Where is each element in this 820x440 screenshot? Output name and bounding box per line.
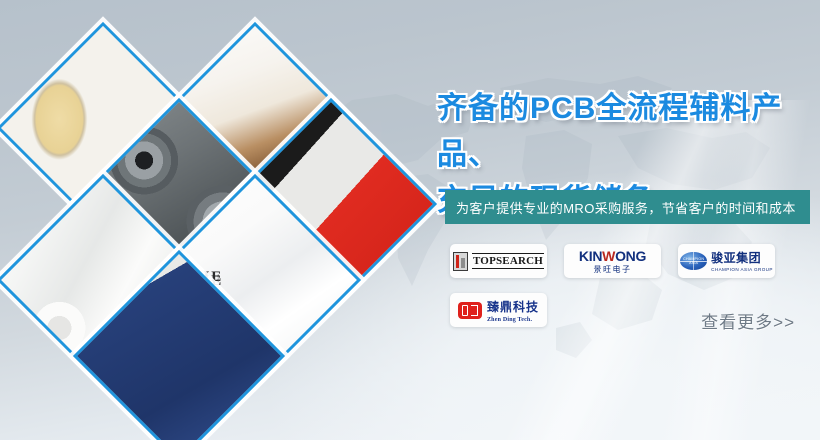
champion-asia-label: 骏亚集团 bbox=[711, 251, 761, 265]
kinwong-label-b: ONG bbox=[615, 248, 646, 264]
champion-asia-sublabel: CHAMPION ASIA GROUP bbox=[711, 268, 773, 273]
partner-logo-zhen-ding[interactable]: 臻鼎科技 Zhen Ding Tech. bbox=[450, 293, 547, 327]
kinwong-label-a: KIN bbox=[579, 248, 602, 264]
kinwong-label: KINWONG bbox=[579, 248, 646, 264]
partner-logo-topsearch[interactable]: TOPSEARCH bbox=[450, 244, 547, 278]
topsearch-mark-icon bbox=[453, 252, 468, 271]
kinwong-sublabel: 景旺电子 bbox=[579, 266, 646, 274]
zhen-ding-mark-icon bbox=[458, 302, 482, 319]
view-more-link[interactable]: 查看更多>> bbox=[701, 308, 795, 333]
zhen-ding-sublabel: Zhen Ding Tech. bbox=[487, 317, 539, 323]
champion-asia-globe-text: CHAMPION ASIA bbox=[680, 257, 707, 265]
topsearch-label: TOPSEARCH bbox=[472, 253, 544, 269]
banner-subtitle-text: 为客户提供专业的MRO采购服务，节省客户的时间和成本 bbox=[445, 198, 796, 217]
product-image-collage: JIE bbox=[0, 0, 430, 440]
zhen-ding-label: 臻鼎科技 bbox=[487, 300, 539, 314]
champion-asia-globe-icon: CHAMPION ASIA bbox=[680, 252, 707, 270]
kinwong-label-w: W bbox=[602, 248, 615, 264]
partner-logo-kinwong[interactable]: KINWONG 景旺电子 bbox=[564, 244, 661, 278]
banner-content: 齐备的PCB全流程辅料产品、 充足的现货储备 为客户提供专业的MRO采购服务，节… bbox=[430, 0, 820, 440]
banner-subtitle-bar: 为客户提供专业的MRO采购服务，节省客户的时间和成本 bbox=[445, 190, 810, 224]
hero-banner: JIE 齐备的PCB全流程辅料产品、 充足的现货储备 为客户提供专业的MRO采购… bbox=[0, 0, 820, 440]
partner-logo-row-1: TOPSEARCH KINWONG 景旺电子 CHAMPION ASIA 骏亚集… bbox=[450, 244, 810, 278]
partner-logo-champion-asia[interactable]: CHAMPION ASIA 骏亚集团 CHAMPION ASIA GROUP bbox=[678, 244, 775, 278]
